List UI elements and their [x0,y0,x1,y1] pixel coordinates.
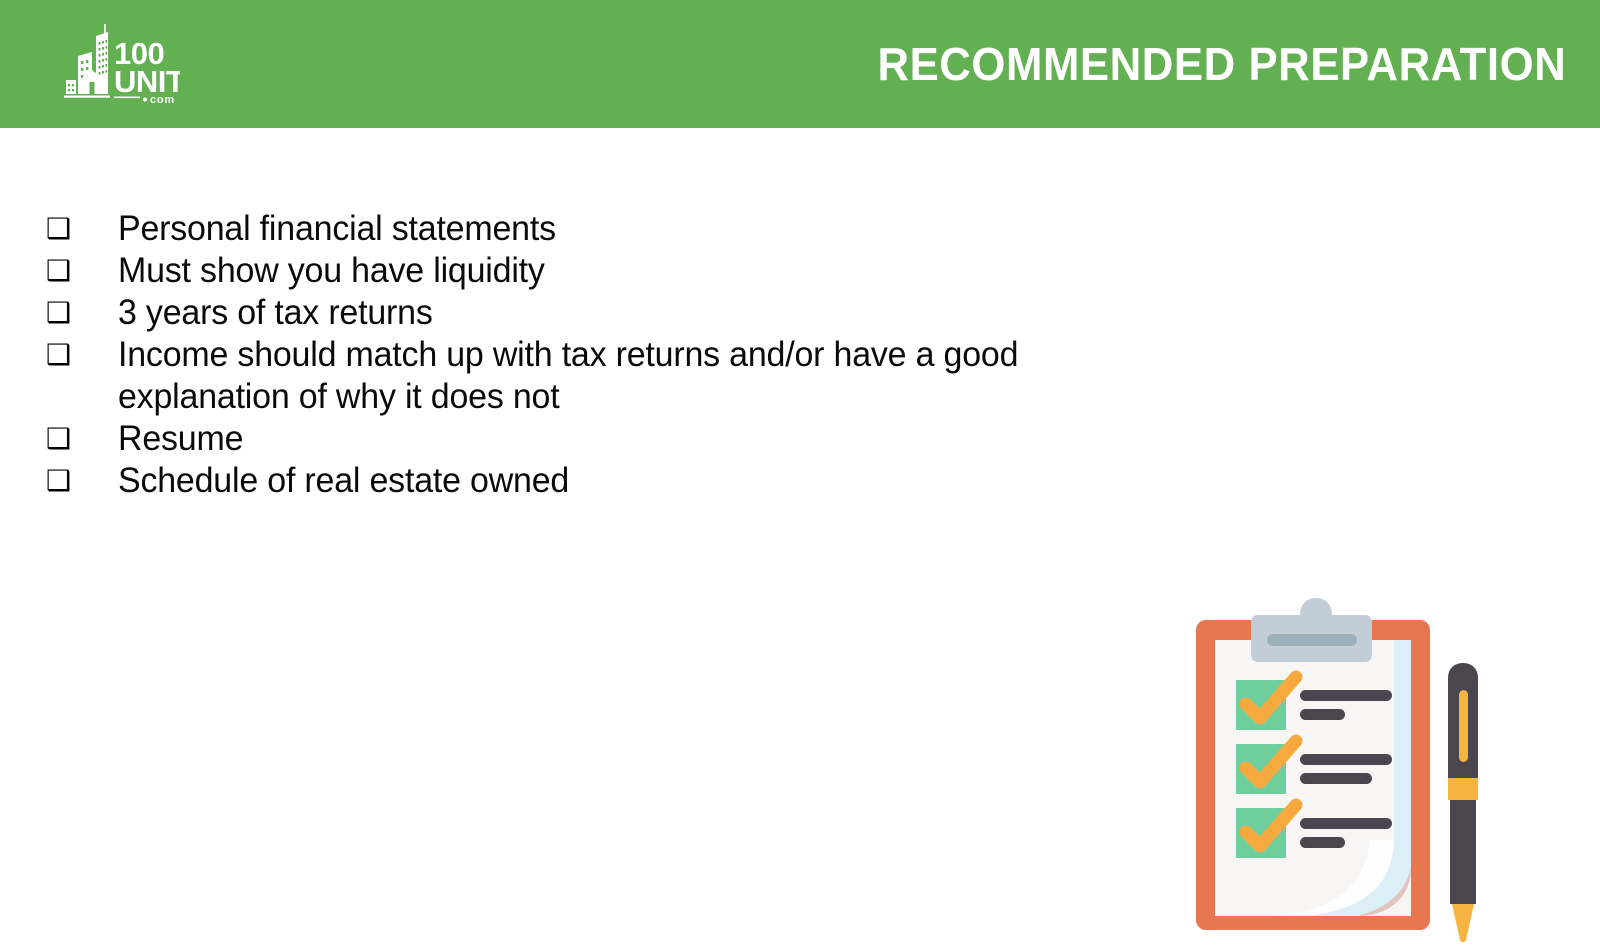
list-item: ❑ 3 years of tax returns [44,292,1134,334]
list-item: ❑ Must show you have liquidity [44,250,1134,292]
list-item-label: Personal financial statements [118,208,1104,250]
list-item-label: Resume [118,418,1104,460]
pen-band-icon [1448,778,1478,800]
svg-text:com: com [150,94,175,106]
slide-header: 100 UNITS com RECOMMENDED PREPARATION [0,0,1600,128]
page-title: RECOMMENDED PREPARATION [877,41,1570,87]
pen-clip-icon [1459,690,1468,762]
clipboard-clip-top-icon [1300,598,1332,615]
list-item: ❑ Schedule of real estate owned [44,460,1134,502]
text-line-2a-icon [1300,754,1392,765]
checkbox-bullet-icon: ❑ [44,208,118,250]
preparation-checklist: ❑ Personal financial statements ❑ Must s… [44,208,1134,502]
pen-tip-icon [1452,904,1474,942]
pen-barrel-icon [1450,800,1476,904]
list-item-label: Income should match up with tax returns … [118,334,1104,418]
text-line-1a-icon [1300,690,1392,701]
text-line-2b-icon [1300,773,1372,784]
checkbox-bullet-icon: ❑ [44,250,118,292]
clipboard-checklist-illustration [1160,568,1490,948]
100-units-logo: 100 UNITS com [60,22,180,106]
checkbox-bullet-icon: ❑ [44,460,118,502]
checkbox-bullet-icon: ❑ [44,418,118,460]
pen-icon [1448,663,1478,942]
list-item-label: 3 years of tax returns [118,292,1104,334]
list-item-label: Schedule of real estate owned [118,460,1104,502]
checkbox-bullet-icon: ❑ [44,334,118,376]
text-line-1b-icon [1300,709,1345,720]
list-item: ❑ Income should match up with tax return… [44,334,1134,418]
list-item-label: Must show you have liquidity [118,250,1104,292]
text-line-3a-icon [1300,818,1392,829]
text-line-3b-icon [1300,837,1345,848]
clipboard-clip-bar-icon [1267,634,1357,646]
list-item: ❑ Personal financial statements [44,208,1134,250]
checkbox-bullet-icon: ❑ [44,292,118,334]
list-item: ❑ Resume [44,418,1134,460]
slide-body: ❑ Personal financial statements ❑ Must s… [0,128,1600,900]
logo-artwork: 100 UNITS com [60,22,180,106]
clipboard-artwork [1160,568,1490,948]
